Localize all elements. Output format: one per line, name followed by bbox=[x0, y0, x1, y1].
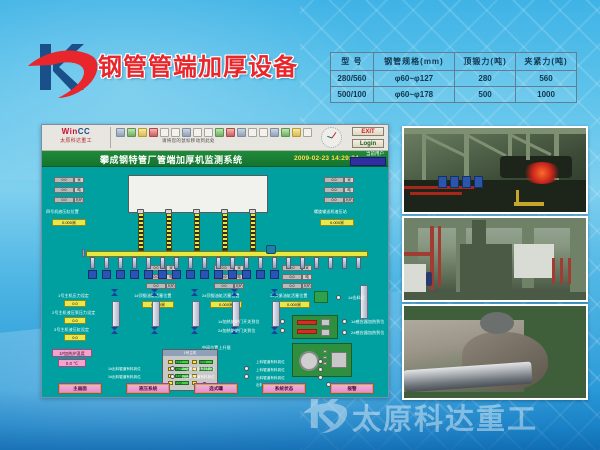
left-readout-caption-2: 2号主机液压泵压力设定 bbox=[52, 310, 95, 316]
roller bbox=[188, 257, 193, 269]
right-group-unit-1: 米 bbox=[344, 177, 354, 183]
drive-motor bbox=[116, 270, 125, 279]
hmi-mimic-canvas: 0.0米 0.0吨 0.0兆帕 四号机液压缸位置 0.000米 0.0米 0.0… bbox=[42, 167, 388, 398]
hydraulic-cylinder bbox=[112, 301, 120, 327]
roller bbox=[244, 257, 249, 269]
status-lamp bbox=[318, 375, 323, 380]
login-button[interactable]: Login bbox=[352, 139, 384, 148]
status-row: 上料辊道有料到位 bbox=[256, 360, 285, 365]
valve-icon bbox=[271, 327, 278, 334]
side-note-1: 1#感应器加热到位 bbox=[351, 319, 384, 325]
mid-group-3-value-1: 0.0米 bbox=[282, 265, 302, 271]
status-lamp bbox=[342, 330, 347, 335]
drive-motor bbox=[200, 270, 209, 279]
open-icon[interactable] bbox=[116, 128, 125, 137]
redo-icon[interactable] bbox=[204, 128, 213, 137]
status-lamp bbox=[170, 374, 175, 379]
pump-terminal bbox=[323, 350, 327, 353]
drive-motor bbox=[256, 270, 265, 279]
right-group-unit-2: 吨 bbox=[344, 187, 354, 193]
drive-motor bbox=[88, 270, 97, 279]
pump-terminal bbox=[323, 362, 327, 365]
mid-group-1-caption: 1#顶锻油缸活塞位置 bbox=[134, 293, 171, 299]
left-group-unit-3: 兆帕 bbox=[74, 197, 84, 203]
roller bbox=[328, 257, 333, 269]
left-group-caption: 四号机液压缸位置 bbox=[46, 209, 79, 215]
valve-solenoid bbox=[297, 329, 317, 334]
nav-button-main[interactable]: 主画面 bbox=[58, 383, 102, 394]
watermark-text: 太原科达重工 bbox=[352, 396, 538, 438]
hydraulic-cylinder bbox=[360, 285, 368, 319]
furnace-column-5 bbox=[250, 213, 256, 251]
exit-button[interactable]: EXIT bbox=[352, 127, 384, 136]
mid-group-3-position-value: 0.000米 bbox=[278, 301, 310, 308]
mid-group-3-value-2: 0.0吨 bbox=[282, 274, 302, 280]
table-row: 280/560 φ60~φ127 280 560 bbox=[331, 71, 577, 87]
roller bbox=[258, 257, 263, 269]
status-lamp bbox=[280, 319, 285, 324]
cell-pipe-size: φ60~φ127 bbox=[373, 71, 454, 87]
drive-motor bbox=[242, 270, 251, 279]
status-row: 1#出料辊道有料到位 bbox=[108, 367, 141, 372]
status-row: 出料辊道有料到位 bbox=[256, 376, 285, 381]
status-lamp bbox=[280, 328, 285, 333]
valve-icon bbox=[151, 327, 158, 334]
left-group-position-value: 0.000米 bbox=[52, 219, 86, 226]
left-group-value-1: 0.0米 bbox=[54, 177, 74, 183]
page-title: 钢管管端加厚设备 bbox=[98, 47, 298, 82]
side-note-2: 2#感应器加热到位 bbox=[351, 330, 384, 336]
photo-pipe-closeup-image bbox=[404, 306, 586, 398]
furnace-cap-1 bbox=[137, 209, 144, 214]
mid-group-3-unit-2: 吨 bbox=[302, 274, 312, 280]
drive-motor bbox=[102, 270, 111, 279]
valve-block-upper bbox=[292, 315, 338, 339]
kd-swoosh-logo bbox=[302, 394, 350, 438]
left-group-value-2: 0.0吨 bbox=[54, 187, 74, 193]
photo-pipe-closeup bbox=[402, 304, 588, 400]
hydraulic-tank bbox=[314, 291, 328, 303]
roller bbox=[342, 257, 347, 269]
furnace-cap-5 bbox=[249, 209, 256, 214]
roller bbox=[202, 257, 207, 269]
nav-button-hydraulics[interactable]: 液压系统 bbox=[126, 383, 170, 394]
photo-rolling-mill-image bbox=[404, 128, 586, 212]
help-icon[interactable] bbox=[281, 128, 290, 137]
drive-motor bbox=[270, 270, 279, 279]
roller bbox=[174, 257, 179, 269]
roller bbox=[132, 257, 137, 269]
wincc-subtitle: 太原科达重工 bbox=[45, 137, 107, 145]
roller bbox=[300, 257, 305, 269]
hydraulic-cylinder bbox=[272, 301, 280, 327]
furnace-cap-4 bbox=[221, 209, 228, 214]
mid-group-1-unit-3: 兆帕 bbox=[166, 283, 176, 289]
cell-clamp-force: 1000 bbox=[516, 87, 577, 103]
valve-icon bbox=[111, 289, 118, 296]
grid-icon[interactable] bbox=[248, 128, 257, 137]
cell-clamp-force: 560 bbox=[516, 71, 577, 87]
hmi-title: 攀成钢特管厂管端加厚机监测系统 bbox=[100, 153, 243, 166]
cell-upset-force: 280 bbox=[455, 71, 516, 87]
conveyor-gearbox bbox=[266, 245, 276, 254]
furnace-column-3 bbox=[194, 213, 200, 251]
conveyor-stop-left bbox=[82, 249, 85, 257]
roller bbox=[160, 257, 165, 269]
toolbar-icon-group-1[interactable] bbox=[116, 128, 312, 137]
save-icon[interactable] bbox=[127, 128, 136, 137]
cell-upset-force: 500 bbox=[455, 87, 516, 103]
zoom-in-icon[interactable] bbox=[237, 128, 246, 137]
roller bbox=[286, 257, 291, 269]
furnace-temp-value: 0.0 ℃ bbox=[58, 359, 86, 367]
valve-chip bbox=[321, 319, 330, 326]
slide-root: 钢管管端加厚设备 型 号 钢管规格(mm) 顶锻力(吨) 夹紧力(吨) 280/… bbox=[0, 0, 600, 450]
drive-motor bbox=[130, 270, 139, 279]
panel-lamp bbox=[192, 360, 197, 364]
valve-icon bbox=[191, 327, 198, 334]
drive-motor bbox=[214, 270, 223, 279]
cut-icon[interactable] bbox=[160, 128, 169, 137]
roller bbox=[216, 257, 221, 269]
left-readout-value-1: 0.0 bbox=[64, 300, 86, 307]
furnace-column-1 bbox=[138, 213, 144, 251]
toolbar-separator bbox=[110, 127, 111, 148]
right-group-unit-3: 兆帕 bbox=[344, 197, 354, 203]
spec-header-upset-force: 顶锻力(吨) bbox=[455, 53, 516, 71]
settings-icon[interactable] bbox=[292, 128, 301, 137]
status-lamp bbox=[336, 295, 341, 300]
heater-note-2: 2#加热炉炉门关到位 bbox=[218, 328, 255, 334]
furnace-cap-2 bbox=[165, 209, 172, 214]
left-readout-caption-1: 1号主机压力设定 bbox=[58, 293, 89, 299]
kd-swoosh-logo bbox=[26, 40, 102, 102]
left-readout-caption-3: 3号主机液压缸设定 bbox=[54, 327, 89, 333]
mid-group-3-unit-3: 兆帕 bbox=[302, 283, 312, 289]
spec-table: 型 号 钢管规格(mm) 顶锻力(吨) 夹紧力(吨) 280/560 φ60~φ… bbox=[330, 52, 577, 103]
drive-motor bbox=[172, 270, 181, 279]
heater-note-1: 1#加热炉炉门开关到位 bbox=[218, 319, 260, 325]
cell-model: 280/560 bbox=[331, 71, 374, 87]
panel-button-reset[interactable]: 复位 bbox=[199, 360, 213, 364]
spec-header-clamp-force: 夹紧力(吨) bbox=[516, 53, 577, 71]
panel-button-run[interactable]: 运行 bbox=[175, 360, 189, 364]
cell-pipe-size: φ60~φ178 bbox=[373, 87, 454, 103]
roller bbox=[146, 257, 151, 269]
spec-header-pipe-size: 钢管规格(mm) bbox=[373, 53, 454, 71]
furnace-temp-caption: 1#加热炉温度 bbox=[52, 349, 92, 357]
roller bbox=[104, 257, 109, 269]
hmi-window: WinCC 太原科达重工 bbox=[41, 124, 389, 398]
roller bbox=[356, 257, 361, 269]
layer-icon[interactable] bbox=[259, 128, 268, 137]
right-group-position-value: 0.000米 bbox=[320, 219, 354, 226]
clock-icon bbox=[321, 127, 342, 148]
roller bbox=[314, 257, 319, 269]
left-group-value-3: 0.0兆帕 bbox=[54, 197, 74, 203]
drive-motor bbox=[186, 270, 195, 279]
valve-icon bbox=[191, 289, 198, 296]
status-lamp bbox=[244, 366, 249, 371]
mid-group-2-unit-3: 兆帕 bbox=[234, 283, 244, 289]
pump-dial bbox=[299, 351, 319, 371]
status-row: 2#出料辊道有料到位 bbox=[182, 375, 215, 380]
furnace-cap-3 bbox=[193, 209, 200, 214]
left-readout-value-2: 0.0 bbox=[64, 317, 86, 324]
spec-header-model: 型 号 bbox=[331, 53, 374, 71]
photo-rolling-mill bbox=[402, 126, 588, 214]
clock-minute-hand bbox=[327, 135, 332, 138]
current-user-field[interactable] bbox=[350, 157, 386, 166]
hmi-toolbar: WinCC 太原科达重工 bbox=[42, 125, 388, 151]
hydraulic-cylinder bbox=[192, 301, 200, 327]
side-note-single: 1#出料位 bbox=[348, 295, 365, 301]
nav-button-tank[interactable]: 选式罐 bbox=[194, 383, 238, 394]
conveyor-line bbox=[86, 251, 368, 257]
photo-workshop bbox=[402, 216, 588, 302]
pump-terminal bbox=[323, 356, 327, 359]
pump-chip bbox=[331, 352, 347, 368]
mid-group-1-value-3: 0.0兆帕 bbox=[146, 283, 166, 289]
drive-motor bbox=[228, 270, 237, 279]
drive-motor bbox=[158, 270, 167, 279]
status-lamp bbox=[170, 366, 175, 371]
wincc-logo: WinCC 太原科达重工 bbox=[45, 127, 107, 149]
mid-group-3-value-3: 0.0兆帕 bbox=[282, 283, 302, 289]
photo-workshop-image bbox=[404, 218, 586, 300]
table-row: 500/100 φ60~φ178 500 1000 bbox=[331, 87, 577, 103]
status-row: 2#出料辊道有料到位 bbox=[182, 367, 215, 372]
paste-icon[interactable] bbox=[182, 128, 191, 137]
left-readout-value-3: 0.0 bbox=[64, 334, 86, 341]
valve-chip bbox=[321, 329, 330, 336]
right-group-value-1: 0.0米 bbox=[324, 177, 344, 183]
properties-icon[interactable] bbox=[270, 128, 279, 137]
roller bbox=[90, 257, 95, 269]
alarm-icon[interactable] bbox=[226, 128, 235, 137]
status-row: 1#出料辊道有料到位 bbox=[108, 375, 141, 380]
valve-icon bbox=[111, 327, 118, 334]
stop-icon[interactable] bbox=[149, 128, 158, 137]
undo-icon[interactable] bbox=[193, 128, 202, 137]
furnace-body bbox=[128, 175, 268, 213]
panel-lamp bbox=[168, 360, 173, 364]
cell-model: 500/100 bbox=[331, 87, 374, 103]
right-group-value-2: 0.0吨 bbox=[324, 187, 344, 193]
left-group-unit-1: 米 bbox=[74, 177, 84, 183]
status-lamp bbox=[342, 319, 347, 324]
watermark: 太原科达重工 bbox=[300, 392, 600, 444]
drive-motor bbox=[144, 270, 153, 279]
hydraulic-cylinder bbox=[152, 301, 160, 327]
valve-solenoid bbox=[297, 320, 317, 325]
copy-icon[interactable] bbox=[171, 128, 180, 137]
wincc-word-cc: CC bbox=[78, 127, 91, 136]
roller bbox=[230, 257, 235, 269]
right-group-value-3: 0.0兆帕 bbox=[324, 197, 344, 203]
mid-group-2-value-3: 0.0兆帕 bbox=[214, 283, 234, 289]
furnace-column-4 bbox=[222, 213, 228, 251]
right-group-caption: 螺旋输送机液压站 bbox=[314, 209, 347, 215]
roller bbox=[272, 257, 277, 269]
status-lamp bbox=[244, 374, 249, 379]
hmi-titlebar: 攀成钢特管厂管端加厚机监测系统 2009-02-23 14:29:24 当前用户 bbox=[42, 151, 388, 167]
spec-table-header-row: 型 号 钢管规格(mm) 顶锻力(吨) 夹紧力(吨) bbox=[331, 53, 577, 71]
status-row: 上料辊道有料到位 bbox=[256, 368, 285, 373]
panel-title: 1号主机 bbox=[163, 350, 217, 356]
roller bbox=[118, 257, 123, 269]
run-icon[interactable] bbox=[215, 128, 224, 137]
status-lamp bbox=[318, 359, 323, 364]
search-icon[interactable] bbox=[303, 128, 312, 137]
furnace-column-2 bbox=[166, 213, 172, 251]
left-group-unit-2: 吨 bbox=[74, 187, 84, 193]
wincc-word-win: Win bbox=[62, 127, 78, 136]
print-icon[interactable] bbox=[138, 128, 147, 137]
toolbar-caption: 请将您的鼠标移动到此处 bbox=[162, 138, 215, 144]
status-lamp bbox=[318, 367, 323, 372]
